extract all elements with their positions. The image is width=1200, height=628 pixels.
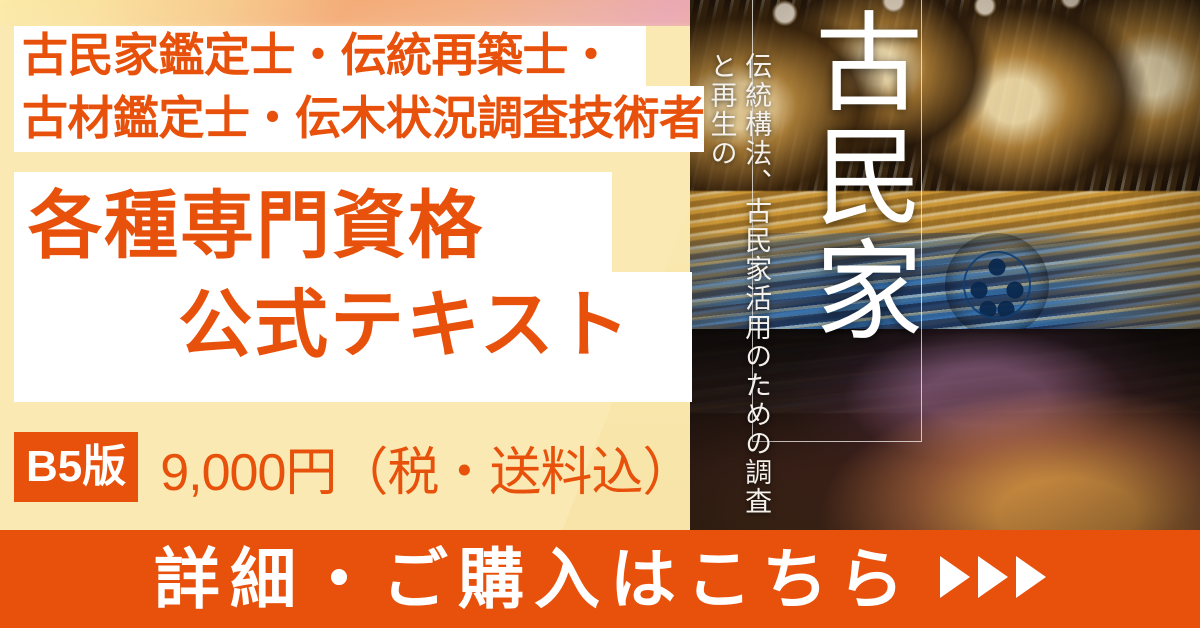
product-title: 各種専門資格 公式テキスト	[28, 176, 688, 374]
product-title-line2: 公式テキスト	[28, 275, 688, 374]
book-cover-title: 古民家	[752, 6, 920, 348]
triangle-right-icon	[978, 556, 1008, 598]
format-badge: B5版	[14, 432, 138, 502]
triangle-right-icon	[1016, 556, 1046, 598]
price-row: B5版 9,000円（税・送料込）	[14, 432, 693, 502]
cta-button[interactable]: 詳細・ご購入はこちら	[0, 530, 1200, 628]
cta-arrows	[940, 556, 1046, 598]
price-amount: 9,000円（税・送料込）	[160, 430, 693, 505]
qualifications-headline-line1: 古民家鑑定士・伝統再築士・	[22, 24, 722, 87]
qualifications-headline-line2: 古材鑑定士・伝木状況調査技術者	[22, 87, 722, 150]
cta-label: 詳細・ご購入はこちら	[154, 530, 914, 628]
book-cover-image: 古民家 伝統構法、古民家活用のための調査と再生の	[690, 0, 1200, 530]
qualifications-headline: 古民家鑑定士・伝統再築士・ 古材鑑定士・伝木状況調査技術者	[22, 24, 722, 150]
product-title-line1: 各種専門資格	[28, 176, 688, 275]
promo-banner: 古民家 伝統構法、古民家活用のための調査と再生の 古民家鑑定士・伝統再築士・ 古…	[0, 0, 1200, 628]
triangle-right-icon	[940, 556, 970, 598]
